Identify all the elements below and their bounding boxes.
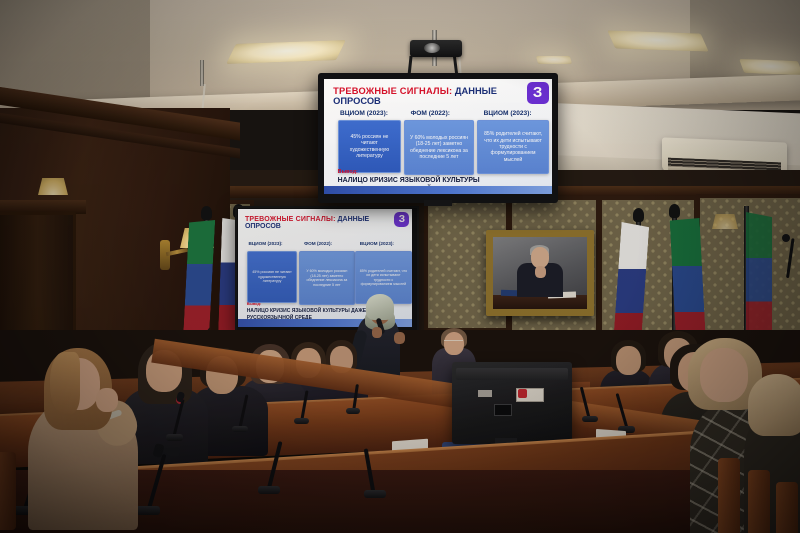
attendee-hand — [96, 388, 118, 412]
attendee-hair-strand — [50, 352, 80, 414]
slide-title: ТРЕВОЖНЫЕ СИГНАЛЫ: ДАННЫЕ ОПРОСОВ — [333, 86, 543, 106]
ceiling-panel-light — [536, 56, 572, 64]
source-label-1: ВЦИОМ (2023): — [248, 241, 282, 246]
microphone-base — [258, 486, 280, 494]
presenter-headscarf — [366, 294, 394, 320]
chair[interactable] — [776, 482, 798, 533]
monitor-label — [478, 390, 492, 397]
projector-lens-icon — [424, 43, 440, 53]
tv-screen: З ТРЕВОЖНЫЕ СИГНАЛЫ: ДАННЫЕ ОПРОСОВ ВЦИО… — [324, 79, 552, 194]
source-label-1: ВЦИОМ (2023): — [340, 110, 388, 117]
slide-title: ТРЕВОЖНЫЕ СИГНАЛЫ: ДАННЫЕ ОПРОСОВ — [245, 216, 405, 230]
microphone-capsule — [782, 234, 790, 242]
ceiling-panel-light — [226, 40, 346, 64]
eyeglasses-icon — [444, 340, 463, 345]
fact-box-2: У 60% молодых россиян (18-25 лет) заметн… — [299, 251, 355, 305]
monitor-port — [494, 404, 512, 416]
slide-title-red: ТРЕВОЖНЫЕ СИГНАЛЫ: — [245, 216, 336, 223]
monitor-seal-icon — [518, 389, 527, 398]
presenter-hand — [394, 332, 405, 344]
flagpole-finial — [201, 206, 212, 220]
ceiling-panel-light — [739, 59, 800, 75]
ceiling-panel-light — [607, 30, 708, 51]
conclusion-label: Вывод: — [247, 301, 262, 306]
fact-box-1: 45% россиян не читают художественную лит… — [247, 251, 298, 302]
chair[interactable] — [748, 470, 770, 533]
microphone-base — [582, 416, 598, 422]
slide-on-tv: З ТРЕВОЖНЫЕ СИГНАЛЫ: ДАННЫЕ ОПРОСОВ ВЦИО… — [324, 79, 552, 194]
chair[interactable] — [718, 458, 740, 533]
fact-box-2: У 60% молодых россиян (18-25 лет) заметн… — [404, 120, 474, 175]
attendee-face — [700, 348, 748, 402]
portrait-book — [500, 290, 517, 297]
microphone-base — [364, 490, 386, 498]
microphone-base — [294, 418, 309, 424]
conference-room-photo: З ТРЕВОЖНЫЕ СИГНАЛЫ: ДАННЫЕ ОПРОСОВ ВЦИО… — [0, 0, 800, 533]
framed-portrait — [486, 230, 594, 316]
microphone-base — [346, 408, 360, 414]
tv-mount — [424, 200, 452, 206]
wall-sconce-lamp — [712, 214, 738, 229]
source-label-3: ВЦИОМ (2023): — [484, 110, 532, 117]
microphone-base — [136, 506, 160, 515]
projector-mount-pole — [200, 60, 204, 86]
slide-title-red: ТРЕВОЖНЫЕ СИГНАЛЫ: — [333, 86, 452, 96]
flagpole-finial — [633, 208, 644, 222]
portrait-face — [531, 247, 549, 268]
wall-sconce-lamp — [38, 178, 68, 195]
chair[interactable] — [0, 452, 16, 530]
fact-box-1: 45% россиян не читают художественную лит… — [338, 120, 402, 172]
source-label-2: ФОМ (2022): — [411, 110, 450, 117]
monitor-vent — [456, 368, 568, 380]
source-label-3: ВЦИОМ (2023): — [360, 241, 394, 246]
microphone-base — [232, 426, 248, 432]
conclusion-label: Вывод: — [338, 169, 358, 175]
microphone-base — [166, 434, 183, 441]
attendee-face — [616, 346, 641, 375]
presenter-hand — [372, 327, 382, 338]
flagpole-finial — [669, 204, 680, 218]
attendee-hair — [748, 374, 800, 436]
fact-box-3: 85% родителей считают, что их дети испыт… — [477, 120, 550, 174]
source-label-2: ФОМ (2022): — [304, 241, 332, 246]
portrait-hand — [535, 266, 546, 278]
slide-footer-band — [324, 186, 552, 194]
flag-dagestan — [746, 212, 772, 340]
